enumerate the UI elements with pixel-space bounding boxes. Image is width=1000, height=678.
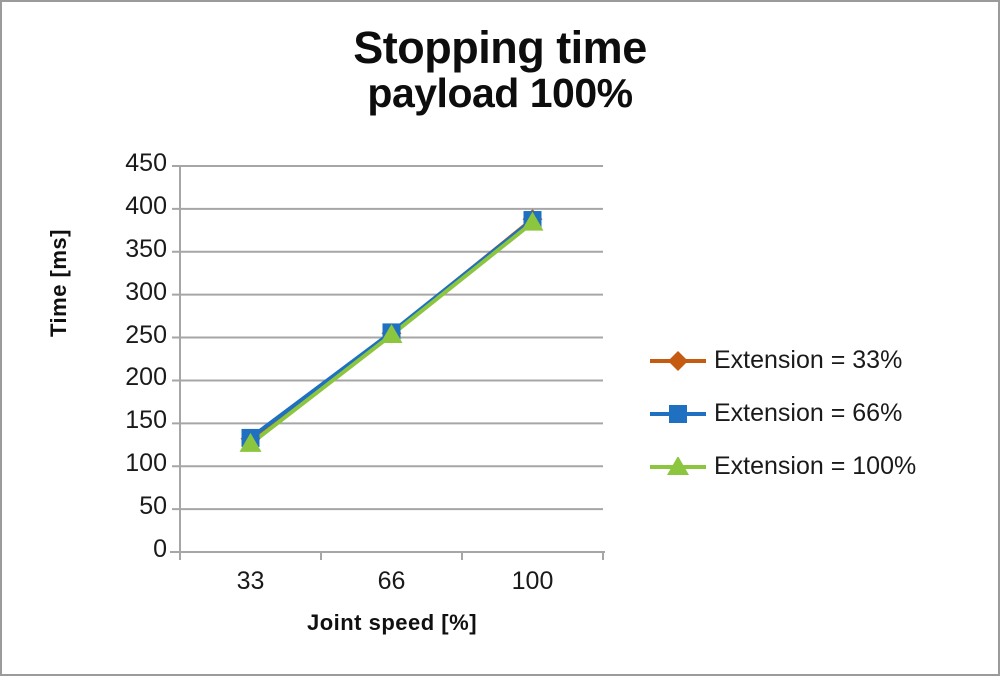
legend-item[interactable]: Extension = 33% <box>650 334 916 387</box>
y-axis-tick-label: 200 <box>87 363 167 392</box>
chart-legend: Extension = 33%Extension = 66%Extension … <box>650 334 916 493</box>
y-axis-tick-label: 250 <box>87 321 167 350</box>
y-axis-title: Time [ms] <box>46 193 72 373</box>
y-axis-tick-label: 350 <box>87 235 167 264</box>
y-axis-tick-label: 300 <box>87 278 167 307</box>
legend-label: Extension = 33% <box>714 346 902 375</box>
y-axis-tick-label: 450 <box>87 149 167 178</box>
legend-marker-icon <box>650 404 706 424</box>
x-axis-tick-label: 100 <box>478 567 588 596</box>
y-axis-tick-label: 400 <box>87 192 167 221</box>
legend-label: Extension = 66% <box>714 399 902 428</box>
y-axis-tick-label: 100 <box>87 449 167 478</box>
legend-item[interactable]: Extension = 66% <box>650 387 916 440</box>
x-axis-tick-label: 33 <box>196 567 306 596</box>
chart-container: Stopping time payload 100% Time [ms] Joi… <box>0 0 1000 676</box>
y-axis-tick-label: 0 <box>87 535 167 564</box>
y-axis-tick-label: 50 <box>87 492 167 521</box>
x-axis-title: Joint speed [%] <box>180 610 604 636</box>
legend-marker-icon <box>650 457 706 477</box>
x-axis-tick-label: 66 <box>337 567 447 596</box>
legend-marker-icon <box>650 351 706 371</box>
legend-item[interactable]: Extension = 100% <box>650 440 916 493</box>
y-axis-tick-label: 150 <box>87 406 167 435</box>
legend-label: Extension = 100% <box>714 452 916 481</box>
